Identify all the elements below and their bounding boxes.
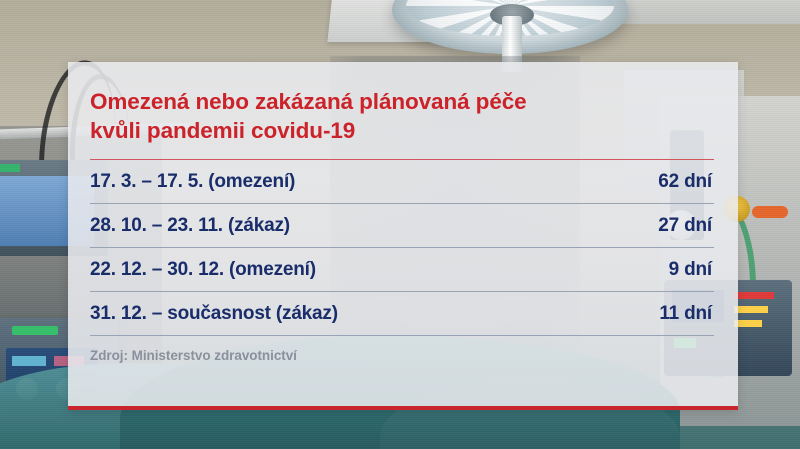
table-row: 17. 3. – 17. 5. (omezení) 62 dní xyxy=(90,160,714,204)
row-value: 27 dní xyxy=(658,215,712,237)
row-value: 62 dní xyxy=(658,171,712,193)
screenshot-stage: Omezená nebo zakázaná plánovaná péče kvů… xyxy=(0,0,800,449)
table-row: 28. 10. – 23. 11. (zákaz) 27 dní xyxy=(90,204,714,248)
table-row: 31. 12. – současnost (zákaz) 11 dní xyxy=(90,292,714,336)
title-line-2: kvůli pandemii covidu-19 xyxy=(90,117,714,146)
row-value: 9 dní xyxy=(669,259,712,281)
row-label: 17. 3. – 17. 5. (omezení) xyxy=(90,171,295,193)
row-label: 31. 12. – současnost (zákaz) xyxy=(90,303,338,325)
info-card-content: Omezená nebo zakázaná plánovaná péče kvů… xyxy=(68,62,738,363)
data-table: 17. 3. – 17. 5. (omezení) 62 dní 28. 10.… xyxy=(90,160,714,336)
table-row: 22. 12. – 30. 12. (omezení) 9 dní xyxy=(90,248,714,292)
title-line-1: Omezená nebo zakázaná plánovaná péče xyxy=(90,88,714,117)
row-label: 28. 10. – 23. 11. (zákaz) xyxy=(90,215,290,237)
row-value: 11 dní xyxy=(659,303,712,325)
source-attribution: Zdroj: Ministerstvo zdravotnictví xyxy=(90,336,714,363)
page-title: Omezená nebo zakázaná plánovaná péče kvů… xyxy=(90,88,714,146)
row-label: 22. 12. – 30. 12. (omezení) xyxy=(90,259,316,281)
info-card: Omezená nebo zakázaná plánovaná péče kvů… xyxy=(68,62,738,410)
